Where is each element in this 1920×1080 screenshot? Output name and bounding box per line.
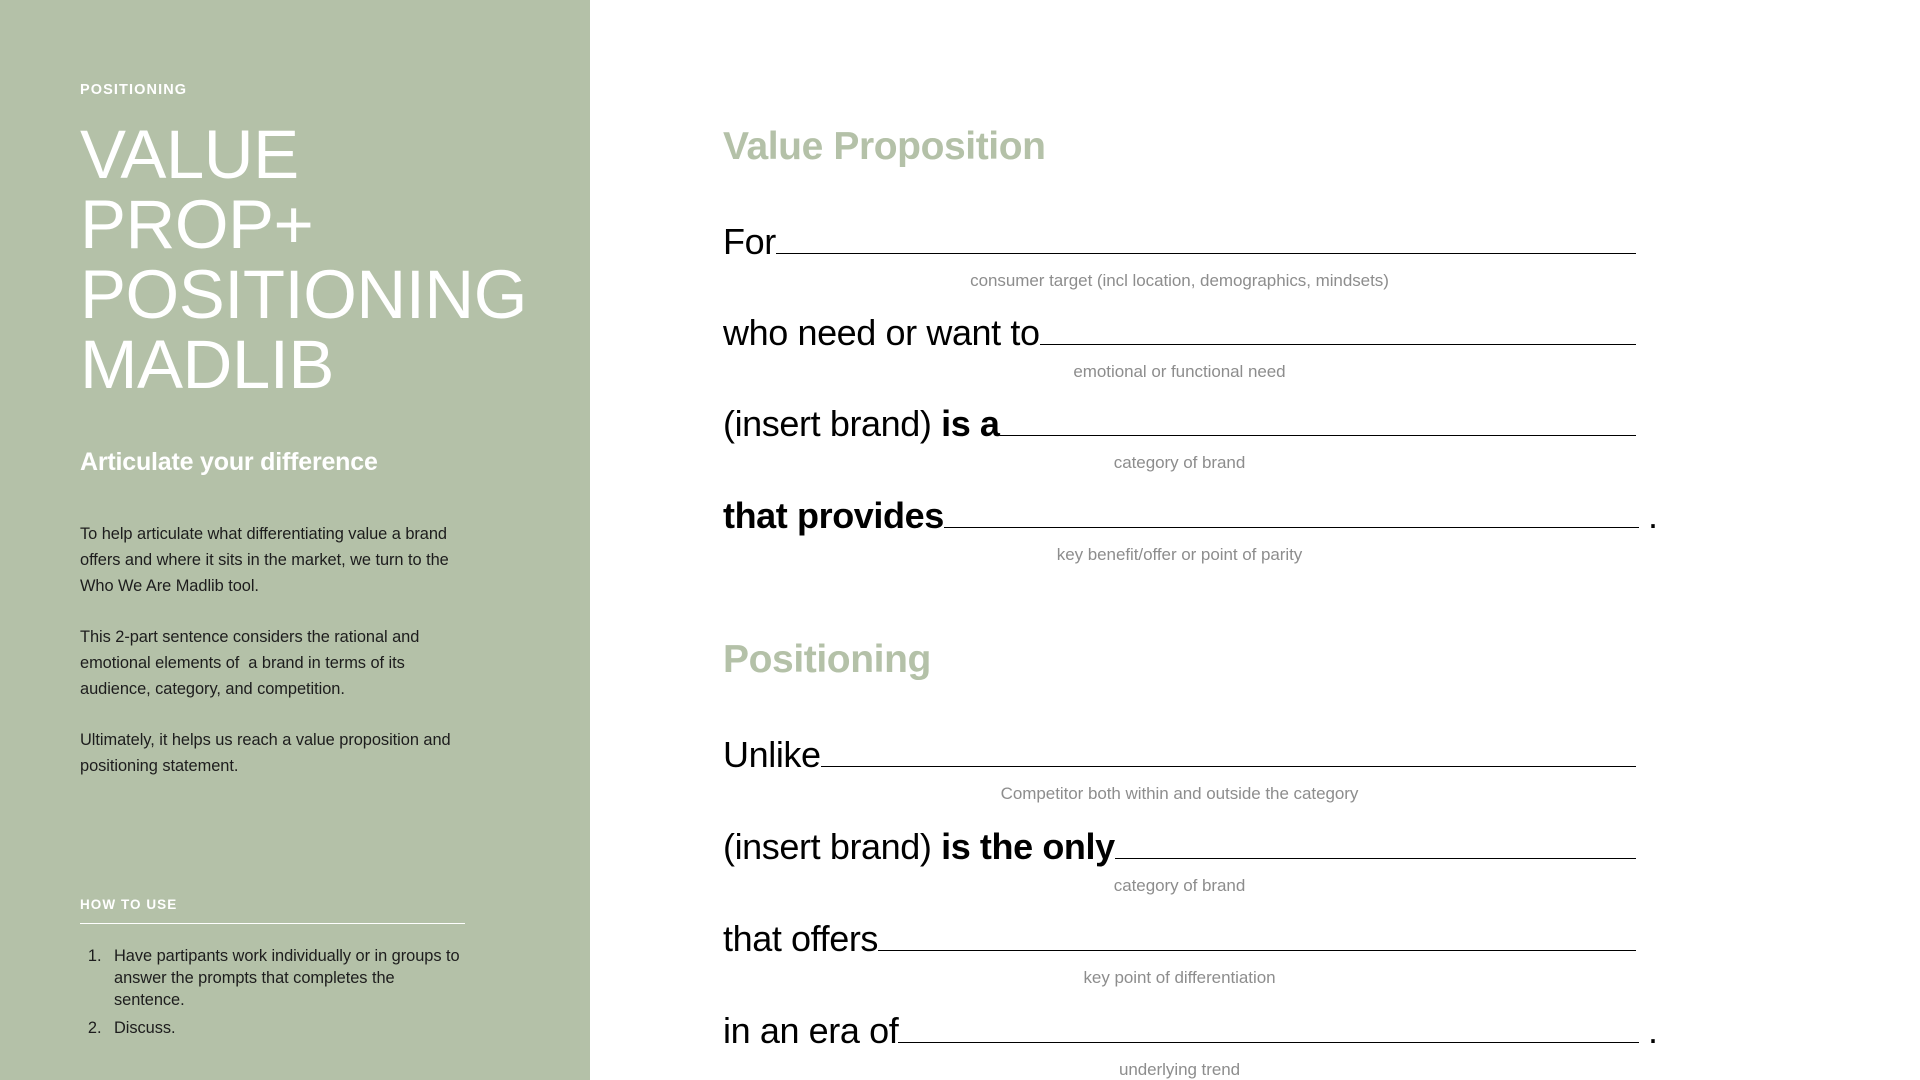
madlib-end-punctuation: . <box>1639 495 1658 537</box>
madlib-row-who-need: who need or want to emotional or functio… <box>723 312 1636 382</box>
madlib-prompt-label: For <box>723 221 776 263</box>
how-to-use-label: HOW TO USE <box>80 897 465 923</box>
sidebar-paragraph: Ultimately, it helps us reach a value pr… <box>80 727 460 779</box>
underline-rule <box>1040 344 1636 345</box>
madlib-row-that-offers: that offers key point of differentiation <box>723 918 1636 988</box>
madlib-line: who need or want to <box>723 312 1636 354</box>
underline-rule <box>1115 858 1636 859</box>
madlib-blank-field[interactable] <box>1040 344 1636 345</box>
madlib-hint-caption: consumer target (incl location, demograp… <box>723 271 1636 291</box>
sidebar-description: To help articulate what differentiating … <box>80 521 460 779</box>
madlib-prompt-label: who need or want to <box>723 312 1040 354</box>
section-heading-value-proposition: Value Proposition <box>723 125 1920 169</box>
madlib-row-in-an-era-of: in an era of . underlying trend <box>723 1010 1658 1080</box>
madlib-row-for: For consumer target (incl location, demo… <box>723 221 1636 291</box>
how-to-use-list: Have partipants work individually or in … <box>80 945 465 1039</box>
madlib-row-is-a: (insert brand) is a category of brand <box>723 403 1636 473</box>
madlib-prompt-text: (insert brand) <box>723 826 941 867</box>
sidebar-panel: POSITIONING VALUE PROP+ POSITIONING MADL… <box>0 0 590 1080</box>
madlib-prompt-label: (insert brand) is a <box>723 403 1000 445</box>
madlib-prompt-label: that provides <box>723 495 944 537</box>
madlib-prompt-emphasis: that provides <box>723 495 944 536</box>
madlib-hint-caption: category of brand <box>723 453 1636 473</box>
slide-canvas: POSITIONING VALUE PROP+ POSITIONING MADL… <box>0 0 1920 1080</box>
sidebar-subtitle: Articulate your difference <box>80 448 480 477</box>
madlib-line: Unlike <box>723 734 1636 776</box>
sidebar-paragraph: This 2-part sentence considers the ratio… <box>80 624 460 702</box>
madlib-prompt-emphasis: is a <box>941 403 999 444</box>
madlib-line: (insert brand) is a <box>723 403 1636 445</box>
madlib-hint-caption: key benefit/offer or point of parity <box>723 545 1636 565</box>
madlib-hint-caption: underlying trend <box>723 1060 1636 1080</box>
how-to-use-section: HOW TO USE Have partipants work individu… <box>80 897 465 1039</box>
madlib-hint-caption: emotional or functional need <box>723 362 1636 382</box>
madlib-line: that provides . <box>723 495 1658 537</box>
underline-rule <box>821 766 1636 767</box>
main-content: Value Proposition For consumer target (i… <box>723 0 1920 1080</box>
madlib-line: (insert brand) is the only <box>723 826 1636 868</box>
madlib-prompt-label: (insert brand) is the only <box>723 826 1115 868</box>
section-heading-positioning: Positioning <box>723 638 1920 682</box>
madlib-blank-field[interactable] <box>878 950 1636 951</box>
madlib-prompt-label: that offers <box>723 918 878 960</box>
madlib-prompt-text: (insert brand) <box>723 403 941 444</box>
madlib-blank-field[interactable] <box>1115 858 1636 859</box>
madlib-prompt-label: in an era of <box>723 1010 898 1052</box>
list-item: Discuss. <box>106 1017 465 1039</box>
madlib-end-punctuation: . <box>1639 1010 1658 1052</box>
madlib-hint-caption: Competitor both within and outside the c… <box>723 784 1636 804</box>
madlib-prompt-label: Unlike <box>723 734 821 776</box>
madlib-line: For <box>723 221 1636 263</box>
madlib-line: in an era of . <box>723 1010 1658 1052</box>
madlib-prompt-emphasis: is the only <box>941 826 1115 867</box>
madlib-row-unlike: Unlike Competitor both within and outsid… <box>723 734 1636 804</box>
madlib-row-that-provides: that provides . key benefit/offer or poi… <box>723 495 1658 565</box>
madlib-blank-field[interactable] <box>821 766 1636 767</box>
madlib-hint-caption: key point of differentiation <box>723 968 1636 988</box>
sidebar-paragraph: To help articulate what differentiating … <box>80 521 460 599</box>
underline-rule <box>1000 435 1636 436</box>
madlib-row-is-the-only: (insert brand) is the only category of b… <box>723 826 1636 896</box>
page-title: VALUE PROP+ POSITIONING MADLIB <box>80 120 480 400</box>
underline-rule <box>898 1042 1639 1043</box>
main-panel: Value Proposition For consumer target (i… <box>590 0 1920 1080</box>
underline-rule <box>776 253 1636 254</box>
list-item: Have partipants work individually or in … <box>106 945 465 1011</box>
sidebar-content: POSITIONING VALUE PROP+ POSITIONING MADL… <box>80 0 480 1045</box>
madlib-blank-field[interactable] <box>898 1042 1639 1043</box>
madlib-blank-field[interactable] <box>1000 435 1636 436</box>
madlib-blank-field[interactable] <box>776 253 1636 254</box>
madlib-hint-caption: category of brand <box>723 876 1636 896</box>
divider <box>80 923 465 924</box>
madlib-blank-field[interactable] <box>944 527 1639 528</box>
sidebar-eyebrow: POSITIONING <box>80 82 480 98</box>
madlib-line: that offers <box>723 918 1636 960</box>
underline-rule <box>878 950 1636 951</box>
underline-rule <box>944 527 1639 528</box>
